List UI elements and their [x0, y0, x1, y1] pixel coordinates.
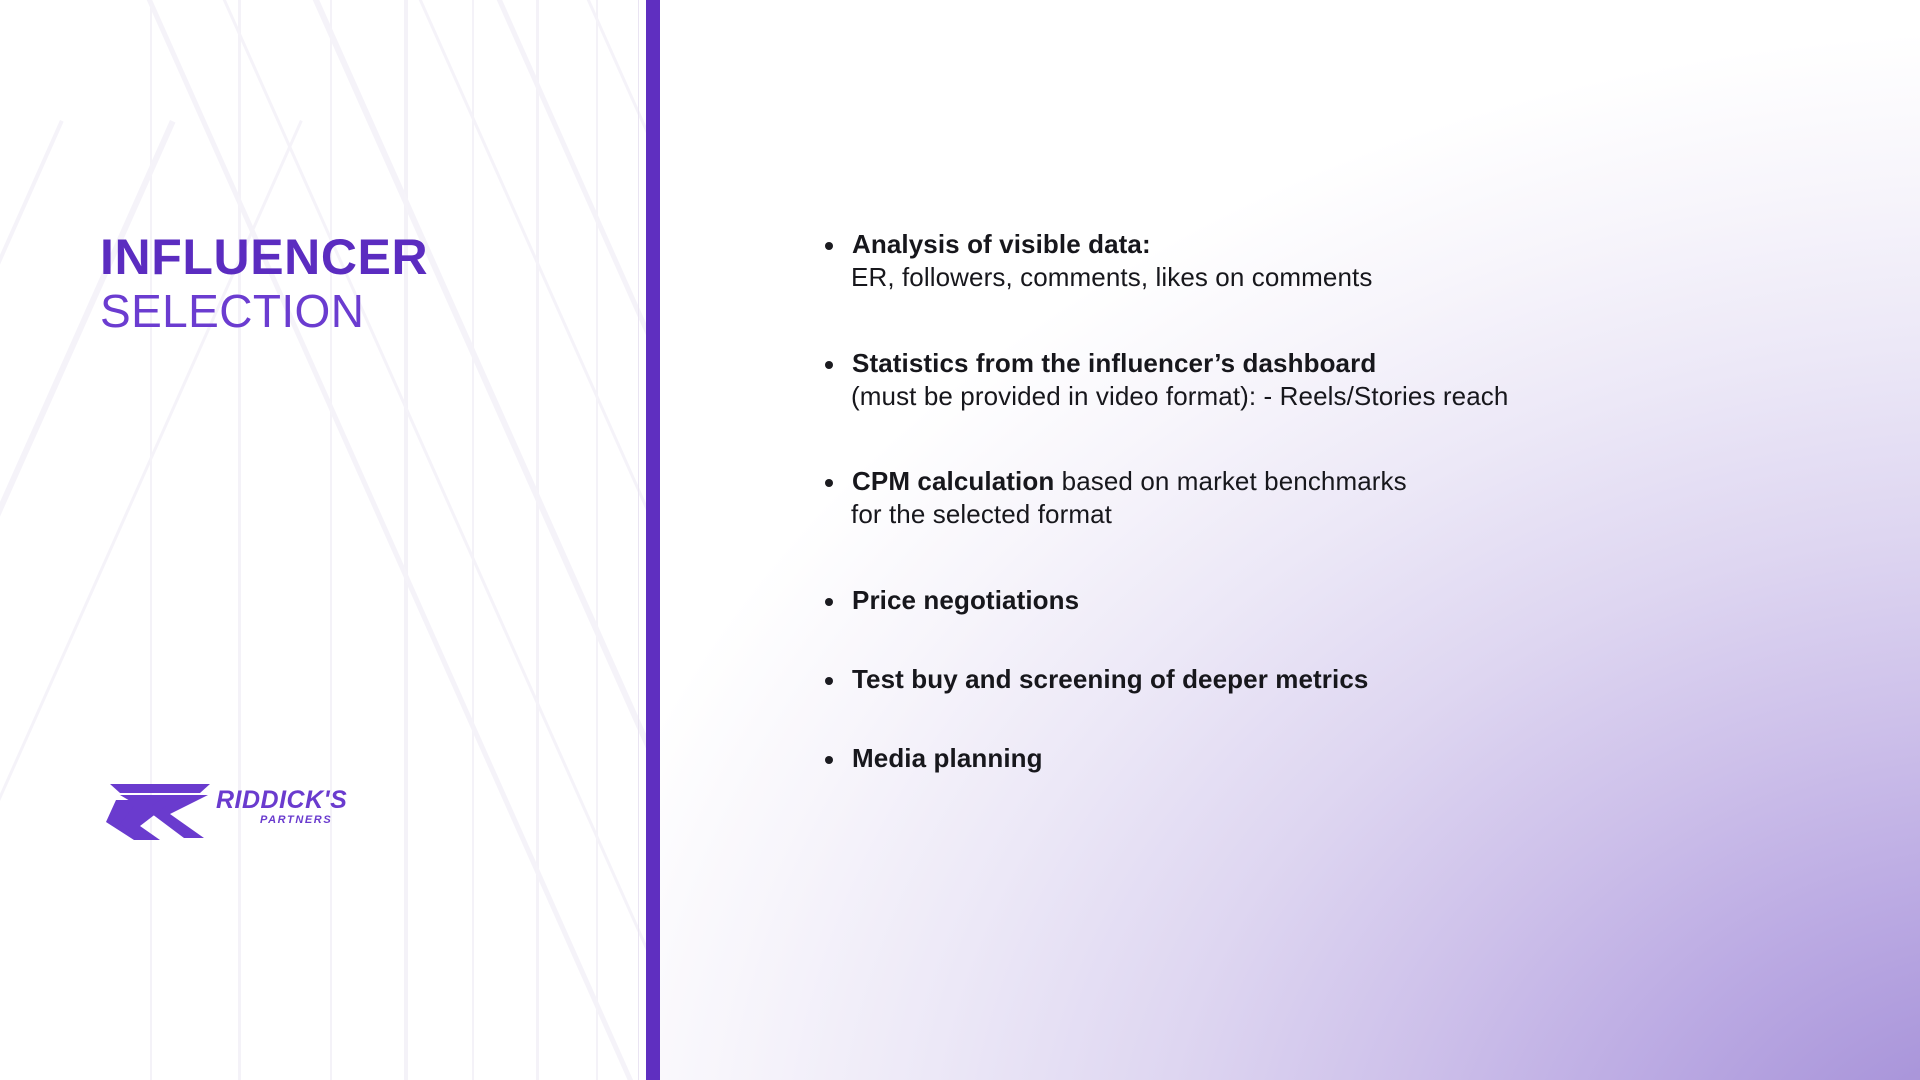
bullet-lead-text: Test buy and screening of deeper metrics [852, 663, 1830, 696]
riddicks-chevron-mark-icon [104, 778, 216, 844]
slide-canvas: INFLUENCER SELECTION RIDDICK'S PARTNERS [0, 0, 1920, 1080]
bullet-dot-icon [825, 242, 833, 250]
brand-logo: RIDDICK'S PARTNERS [104, 778, 384, 844]
bullet-lead-bold-fragment: CPM calculation [852, 466, 1054, 496]
logo-wordmark: RIDDICK'S PARTNERS [216, 786, 384, 838]
bullet-lead-text: Media planning [852, 742, 1830, 775]
bullet-lead-text: Analysis of visible data: [852, 228, 1830, 261]
logo-subtitle-text: PARTNERS [260, 814, 332, 826]
bullet-lead-text: Price negotiations [852, 584, 1830, 617]
bullet-sub-text: (must be provided in video format): - Re… [851, 380, 1830, 413]
bullet-dot-icon [825, 479, 833, 487]
bullet-lead-regular-fragment: based on market benchmarks [1054, 466, 1406, 496]
list-item: Price negotiations [820, 584, 1830, 617]
vertical-accent-divider [646, 0, 660, 1080]
title-primary-line: INFLUENCER [100, 232, 428, 282]
bullet-lead-text: Statistics from the influencer’s dashboa… [852, 347, 1830, 380]
bullet-dot-icon [825, 677, 833, 685]
bullet-dot-icon [825, 756, 833, 764]
list-item: Statistics from the influencer’s dashboa… [820, 347, 1830, 414]
list-item: Media planning [820, 742, 1830, 775]
left-panel: INFLUENCER SELECTION RIDDICK'S PARTNERS [0, 0, 646, 1080]
slide-title: INFLUENCER SELECTION [100, 232, 428, 334]
bullet-list: Analysis of visible data: ER, followers,… [820, 228, 1830, 775]
bullet-sub-text: ER, followers, comments, likes on commen… [851, 261, 1830, 294]
bullet-lead-text: CPM calculation based on market benchmar… [852, 465, 1830, 498]
background-watermark-pattern [0, 0, 646, 1080]
bullet-dot-icon [825, 598, 833, 606]
logo-name-text: RIDDICK'S [216, 786, 347, 815]
list-item: CPM calculation based on market benchmar… [820, 465, 1830, 532]
title-secondary-line: SELECTION [100, 288, 428, 334]
bullet-sub-text: for the selected format [851, 498, 1830, 531]
divider-hairline [638, 0, 639, 1080]
list-item: Test buy and screening of deeper metrics [820, 663, 1830, 696]
list-item: Analysis of visible data: ER, followers,… [820, 228, 1830, 295]
bullet-dot-icon [825, 361, 833, 369]
